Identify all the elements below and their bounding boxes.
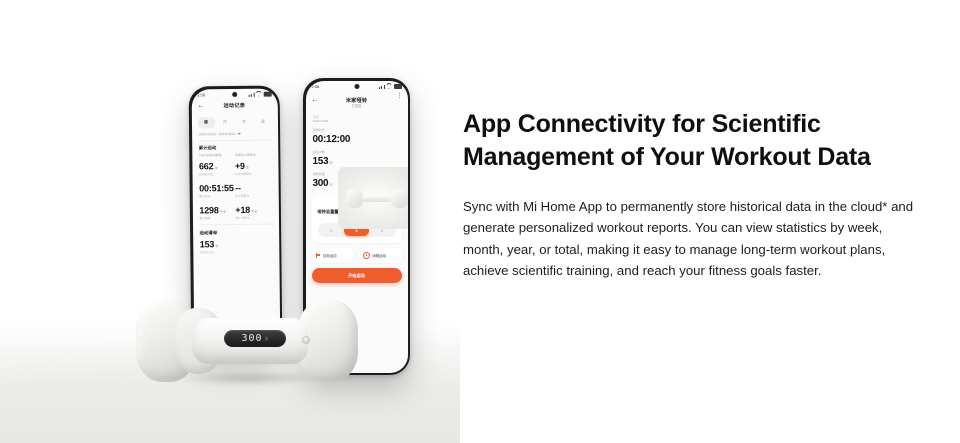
stat-sublabel: 较上周变化: [235, 194, 271, 199]
front-camera-icon: [232, 91, 237, 96]
body-paragraph: Sync with Mi Home App to permanently sto…: [463, 196, 918, 282]
page-title: 运动记录: [191, 101, 277, 109]
section-title-cumulative: 累计运动: [192, 140, 278, 152]
quick-action-label: 目标运动: [323, 253, 337, 258]
stat-sublabel: 运动次数变化: [235, 171, 271, 176]
signal-icon: [248, 95, 249, 97]
stat-unit: 千卡: [219, 210, 225, 214]
headline: App Connectivity for Scientific Manageme…: [463, 108, 918, 174]
battery-icon: [394, 84, 402, 89]
status-time: 2:56: [312, 84, 320, 89]
stat-unit: 千卡: [251, 210, 257, 214]
stat-label: 7天内的运动数据: [199, 153, 235, 158]
tab-year[interactable]: 年: [235, 116, 252, 127]
weight-card-title: 哑铃总重量: [318, 209, 339, 214]
dumbbell-display: 300 次: [224, 330, 286, 347]
stat-value: --: [235, 181, 271, 194]
dumbbell-display-unit: 次: [265, 337, 269, 341]
signal-icon: [253, 93, 254, 97]
dumbbell-display-value: 300: [241, 334, 262, 344]
clock-icon: [363, 252, 370, 259]
stat-cell-reps-delta: +9次 运动次数变化: [235, 159, 271, 176]
stat-sublabel: 较上周变化: [235, 216, 271, 221]
quick-action-goal-workout[interactable]: 目标运动: [312, 248, 355, 263]
device-hero-image: [338, 167, 408, 229]
today-block: 今日 2024/10/18: [306, 111, 408, 125]
signal-icon: [381, 86, 382, 89]
smart-dumbbell-product: 300 次: [136, 296, 358, 386]
more-options-icon[interactable]: ⋮: [397, 94, 403, 99]
front-camera-icon: [354, 84, 359, 89]
stat-sublabel: 累计消耗: [199, 216, 235, 221]
stat-cell-calories: 1298千卡 累计消耗: [199, 204, 235, 221]
stat-cell-duration: 00:51:55 累计时长: [199, 182, 235, 199]
period-tabs: 周 月 年 总: [191, 111, 277, 131]
stats-row: 662次 总运动次数 +9次 运动次数变化: [192, 157, 278, 176]
promo-banner: 2:56 ← 运动记录 周 月: [0, 0, 960, 443]
stat-value: 662次: [199, 160, 235, 173]
dumbbell-head-right: [391, 189, 408, 208]
section-title-workout-list: 运动清单: [193, 225, 279, 237]
dumbbell-bar: [362, 195, 392, 202]
quick-action-interval-workout[interactable]: 间歇运动: [359, 248, 402, 263]
stats-row: 7天内的运动数据 本周较上周变化: [192, 151, 278, 158]
signal-icon: [379, 87, 380, 89]
status-icons: [379, 83, 402, 89]
nav-bar-left: ← 运动记录: [191, 99, 277, 112]
stat-value: 1298千卡: [199, 204, 235, 217]
stats-row: 1298千卡 累计消耗 +18千卡 较上周变化: [192, 202, 278, 221]
stats-row: 00:51:55 累计时长 -- 较上周变化: [192, 179, 278, 198]
product-photo-area: 2:56 ← 运动记录 周 月: [0, 0, 460, 443]
stat-value: +9次: [235, 159, 271, 172]
stat-value: 153次: [200, 238, 272, 251]
start-workout-button[interactable]: 开始运动: [312, 268, 402, 283]
tab-total[interactable]: 总: [254, 116, 271, 127]
tab-month[interactable]: 月: [216, 117, 233, 128]
stat-unit: 次: [246, 165, 249, 169]
device-status-label: 已连接: [306, 103, 408, 108]
signal-icon: [251, 94, 252, 97]
stat-sublabel: 累计时长: [199, 194, 235, 199]
stat-label: 本周较上周变化: [235, 153, 271, 158]
status-bar-right: 2:56: [306, 81, 408, 92]
stat-cell-total-reps: 662次 总运动次数: [199, 160, 235, 177]
metric-reps: 运动次数 153次: [306, 146, 408, 168]
stat-cell-calories-delta: +18千卡 较上周变化: [235, 204, 271, 221]
signal-icon: [384, 85, 385, 89]
quick-action-label: 间歇运动: [373, 253, 387, 258]
wifi-icon: [386, 83, 392, 89]
status-bar-left: 2:56: [191, 88, 277, 100]
chevron-down-icon: [238, 132, 242, 134]
stat-cell-duration-delta: -- 较上周变化: [235, 181, 271, 198]
battery-icon: [263, 92, 271, 97]
stat-sublabel: 总运动次数: [199, 172, 235, 177]
stat-unit: 次: [215, 244, 218, 248]
stat-unit: 次: [214, 166, 217, 170]
copy-column: App Connectivity for Scientific Manageme…: [463, 108, 918, 282]
stat-value: 00:51:55: [199, 182, 235, 195]
workout-list-row[interactable]: 153次 2024/10/18: [193, 236, 279, 255]
stat-value: +18千卡: [235, 204, 271, 217]
metric-duration: 运动时长 00:12:00: [306, 124, 408, 146]
stat-cell: 7天内的运动数据: [199, 153, 235, 158]
flag-icon: [316, 253, 321, 258]
quick-actions-row: 目标运动 间歇运动: [312, 248, 402, 263]
status-icons: [248, 91, 271, 97]
workout-list-entry: 153次 2024/10/18: [200, 238, 272, 255]
dumbbell-illustration: [346, 189, 408, 209]
stat-cell: 本周较上周变化: [235, 153, 271, 158]
nav-bar-right: ← 米家哑铃 已连接 ⋮: [306, 92, 408, 111]
entry-date: 2024/10/18: [200, 250, 272, 255]
metric-value: 00:12:00: [313, 133, 401, 146]
status-time: 2:56: [197, 92, 205, 97]
date-range-label: 2024/10/18 - 2024/10/24: [199, 131, 236, 135]
dumbbell-power-button[interactable]: [302, 336, 310, 344]
tab-week[interactable]: 周: [197, 117, 214, 128]
dumbbell-head-left: [346, 189, 363, 208]
metric-unit: 卡: [329, 183, 332, 187]
wifi-icon: [256, 91, 262, 97]
metric-unit: 次: [329, 161, 332, 165]
